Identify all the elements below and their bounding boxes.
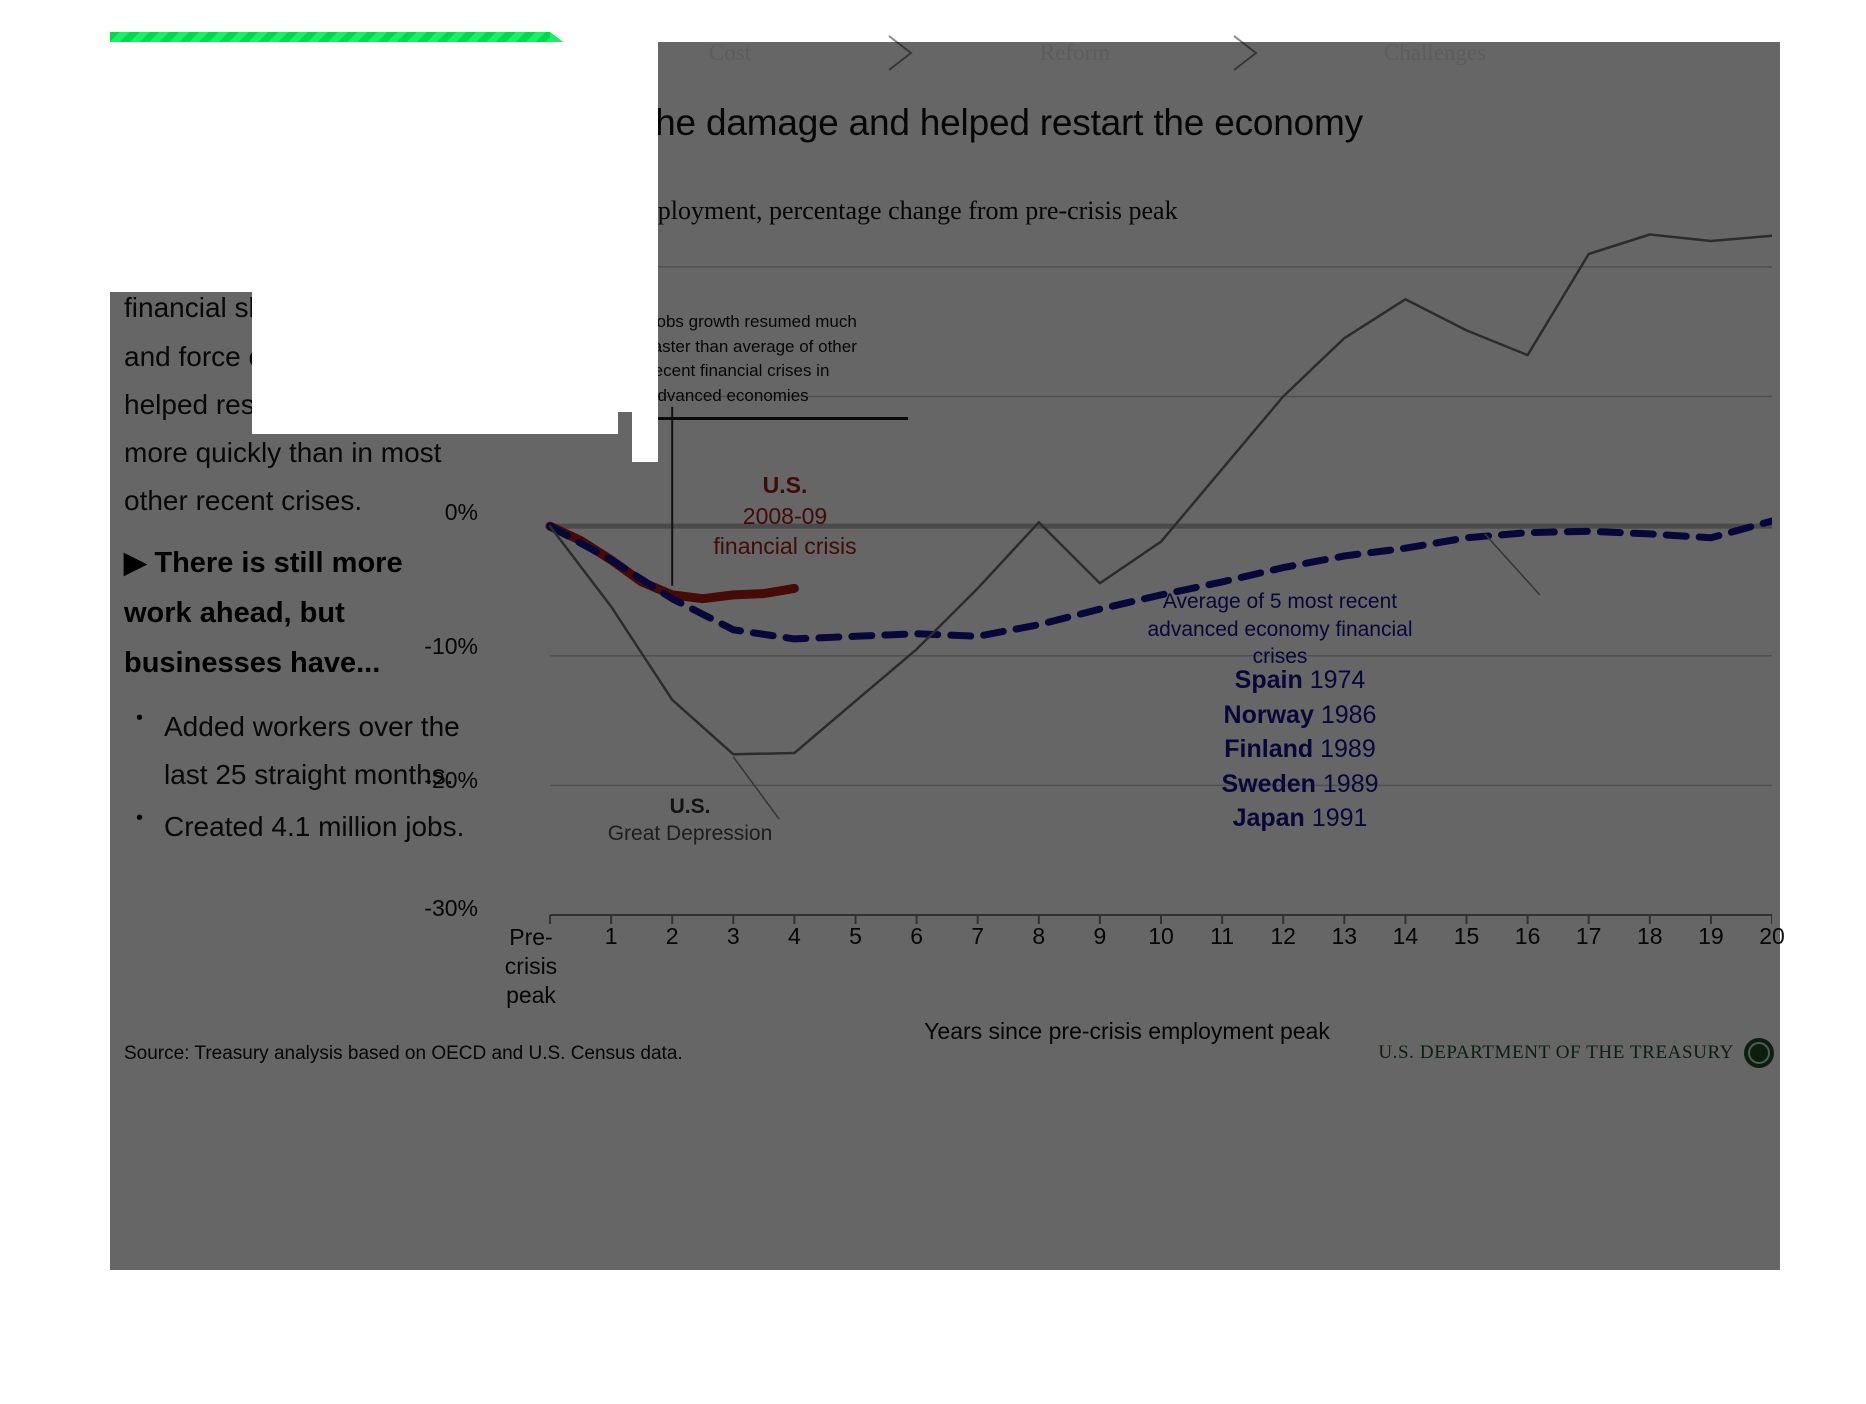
list-item: Japan 1991 <box>1170 801 1430 836</box>
y-tick-label: +10% <box>408 374 478 401</box>
country-year: 1989 <box>1323 770 1379 798</box>
x-tick-label: 15 <box>1447 923 1487 950</box>
slide-number: 8 <box>110 92 196 154</box>
list-item: Created 4.1 million jobs. <box>124 803 474 851</box>
country-year: 1986 <box>1321 701 1377 729</box>
source-note: Source: Treasury analysis based on OECD … <box>124 1043 683 1065</box>
slide-stage: Response Cost Reform Challenges 8 The cr… <box>0 0 1866 1404</box>
x-tick-label: 14 <box>1385 923 1425 950</box>
y-tick-label: +20% <box>408 240 478 267</box>
label-us-crisis: U.S. 2008-09 financial crisis <box>690 470 880 562</box>
triangle-bullet-icon: ▶ <box>124 201 143 229</box>
page-title: The crisis response curbed the damage an… <box>196 102 1363 144</box>
country-name: Finland <box>1224 735 1313 763</box>
list-item: Norway 1986 <box>1170 698 1430 733</box>
y-tick-label: -30% <box>408 895 478 922</box>
label-average-line1: Average of 5 most recent <box>1163 590 1397 613</box>
triangle-bullet-icon-2: ▶ <box>124 547 146 579</box>
breadcrumb-label: Response <box>286 40 374 66</box>
x-tick-label: 11 <box>1202 923 1242 950</box>
lead-label-2: There is still more work ahead, but busi… <box>124 547 403 679</box>
label-great-depression: U.S. Great Depression <box>590 793 790 848</box>
label-average-line2: advanced economy financial crises <box>1147 618 1412 669</box>
lead-statement-1: ▶ Jobs are returning. <box>124 196 474 232</box>
treasury-branding: U.S. DEPARTMENT OF THE TREASURY <box>1378 1038 1774 1068</box>
country-year: 1974 <box>1310 666 1366 694</box>
y-tick-label: -10% <box>408 633 478 660</box>
country-year: 1991 <box>1312 804 1368 832</box>
callout-jobs-growth: Jobs growth resumed much faster than ave… <box>638 308 908 420</box>
breadcrumb-item-reform[interactable]: Reform <box>925 32 1225 74</box>
x-tick-label: 20 <box>1752 923 1792 950</box>
list-item: Sweden 1989 <box>1170 767 1430 802</box>
x-tick-label: 9 <box>1080 923 1120 950</box>
label-gd-line1: U.S. <box>670 795 711 818</box>
x-tick-label: 12 <box>1263 923 1303 950</box>
list-item: Spain 1974 <box>1170 663 1430 698</box>
label-us-crisis-line3: financial crisis <box>713 533 856 559</box>
country-name: Japan <box>1233 804 1305 832</box>
lead-label: Jobs are returning. <box>151 198 414 230</box>
x-tick-label: 5 <box>836 923 876 950</box>
label-gd-line2: Great Depression <box>608 822 773 845</box>
country-name: Sweden <box>1221 770 1315 798</box>
x-tick-label: 2 <box>652 923 692 950</box>
y-tick-label: 0% <box>408 499 478 526</box>
x-tick-label: 7 <box>958 923 998 950</box>
slide-canvas: Response Cost Reform Challenges 8 The cr… <box>110 18 1780 1288</box>
breadcrumb-label: Reform <box>1040 40 1110 66</box>
x-tick-label: 19 <box>1691 923 1731 950</box>
breadcrumb-item-response[interactable]: Response <box>110 32 550 74</box>
breadcrumb-item-cost[interactable]: Cost <box>580 32 880 74</box>
x-tick-label: 17 <box>1569 923 1609 950</box>
crisis-country-list: Spain 1974 Norway 1986 Finland 1989 Swed… <box>1170 663 1430 836</box>
x-tick-label: 16 <box>1508 923 1548 950</box>
x-tick-label: 6 <box>897 923 937 950</box>
x-tick-label: 10 <box>1141 923 1181 950</box>
country-year: 1989 <box>1320 735 1376 763</box>
x-tick-label: 4 <box>774 923 814 950</box>
label-us-crisis-line2: 2008-09 <box>743 503 827 529</box>
treasury-seal-icon <box>1744 1038 1774 1068</box>
x-tick-label: 1 <box>591 923 631 950</box>
label-average-crises: Average of 5 most recent advanced econom… <box>1130 588 1430 671</box>
list-item: Finland 1989 <box>1170 732 1430 767</box>
country-name: Norway <box>1224 701 1314 729</box>
x-tick-label: 8 <box>1019 923 1059 950</box>
chevron-right-icon-2 <box>1230 32 1264 74</box>
x-tick-label: 3 <box>713 923 753 950</box>
y-tick-label: -20% <box>408 767 478 794</box>
label-us-crisis-line1: U.S. <box>763 472 808 498</box>
breadcrumb: Response Cost Reform Challenges <box>110 32 1780 74</box>
department-label: U.S. DEPARTMENT OF THE TREASURY <box>1378 1042 1734 1064</box>
chevron-right-icon-1 <box>885 32 919 74</box>
breadcrumb-item-challenges[interactable]: Challenges <box>1270 32 1600 74</box>
x-tick-label-precrisis: Pre-crisispeak <box>500 923 562 1009</box>
chart-title: Total civilian employment, percentage ch… <box>482 196 1178 226</box>
x-tick-label: 13 <box>1324 923 1364 950</box>
breadcrumb-label: Challenges <box>1384 40 1486 66</box>
page-title-row: 8 The crisis response curbed the damage … <box>110 88 1780 158</box>
x-tick-label: 18 <box>1630 923 1670 950</box>
country-name: Spain <box>1235 666 1303 694</box>
breadcrumb-label: Cost <box>709 40 751 66</box>
lead-statement-2: ▶ There is still more work ahead, but bu… <box>124 539 474 689</box>
